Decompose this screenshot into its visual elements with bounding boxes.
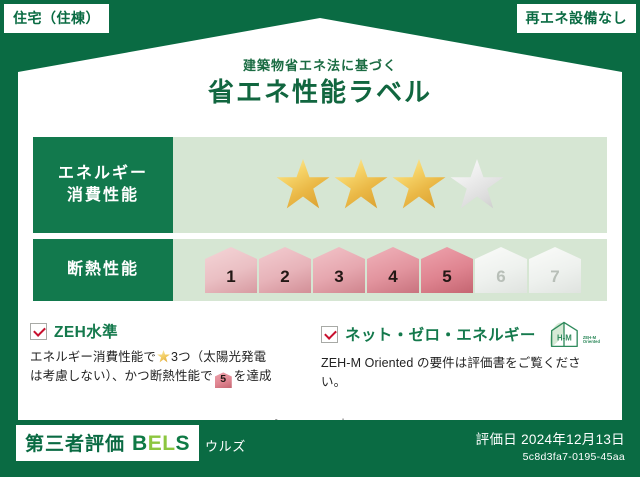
zeh-desc-part3: を達成 [234,369,272,383]
label-title-block: 建築物省エネ法に基づく 省エネ性能ラベル [0,58,640,107]
criterion-net-zero-energy: ネット・ゼロ・エネルギー H-M ZEH-M Oriented ZEH-M Or… [321,320,612,393]
criterion-nze-description: ZEH-M Oriented の要件は評価書をご覧ください。 [321,354,598,393]
insulation-grade-scale: 1234567 [173,239,607,301]
criteria-section: ZEH水準 エネルギー消費性能で3つ（太陽光発電は考慮しない）、かつ断熱性能で5… [30,320,612,393]
zeh-m-caption-line2: Oriented [583,339,600,344]
bels-letters-el: EL [148,432,176,455]
criterion-zeh-header: ZEH水準 [30,320,307,342]
zeh-desc-part1: エネルギー消費性能で [30,350,156,364]
performance-rows: エネルギー 消費性能 断熱性能 1234567 [33,137,607,301]
checkmark-icon [30,323,47,340]
insulation-label-line1: 断熱性能 [67,259,139,281]
inline-grade-badge: 5 [215,372,232,388]
energy-label-line2: 消費性能 [67,185,139,207]
star-rating [173,137,607,233]
energy-label-line1: エネルギー [58,163,148,185]
renewable-energy-tag: 再エネ設備なし [517,4,637,33]
insulation-performance-row: 断熱性能 1234567 [33,239,607,301]
insulation-grade-1: 1 [205,247,257,293]
zeh-m-mark-text: H-M [557,334,572,343]
bels-letter-s: S [176,432,191,455]
star-filled-icon [276,159,330,211]
checkmark-icon [321,326,338,343]
bels-prefix-text: 第三者評価 [25,429,125,456]
bels-badge: 第三者評価 BELS [16,425,199,461]
inline-star-icon [157,350,170,363]
evaluation-info: 評価日 2024年12月13日 5c8d3fa7-0195-45aa [476,428,625,463]
bels-letter-b: B [132,432,148,455]
insulation-grade-4: 4 [367,247,419,293]
criterion-nze-header: ネット・ゼロ・エネルギー H-M ZEH-M Oriented [321,320,598,348]
insulation-grade-5: 5 [421,247,473,293]
zeh-m-house-icon: H-M [547,320,581,348]
title-subtitle: 建築物省エネ法に基づく [0,58,640,74]
building-type-tag: 住宅（住棟） [4,4,109,33]
zeh-m-logo-caption: ZEH-M Oriented [583,336,600,348]
evaluation-id: 5c8d3fa7-0195-45aa [476,451,625,463]
zeh-desc-star-count: 3つ（太陽光発電 [171,350,266,364]
insulation-grade-7: 7 [529,247,581,293]
energy-performance-row: エネルギー 消費性能 [33,137,607,233]
zeh-m-logo: H-M ZEH-M Oriented [547,320,600,348]
insulation-performance-label: 断熱性能 [33,239,173,301]
insulation-grade-3: 3 [313,247,365,293]
zeh-desc-part2: は考慮しない）、かつ断熱性能で [30,369,213,383]
star-filled-icon [392,159,446,211]
energy-performance-label: エネルギー 消費性能 [33,137,173,233]
criterion-zeh-standard: ZEH水準 エネルギー消費性能で3つ（太陽光発電は考慮しない）、かつ断熱性能で5… [30,320,321,393]
criterion-zeh-title: ZEH水準 [54,320,118,342]
star-empty-icon [450,159,504,211]
bels-wordmark: BELS [132,432,190,456]
title-main: 省エネ性能ラベル [0,78,640,108]
label-footer: 第三者評価 BELS ウルズ 評価日 2024年12月13日 5c8d3fa7-… [0,420,640,477]
insulation-grade-6: 6 [475,247,527,293]
company-name: ウルズ [205,436,246,455]
energy-performance-label: 住宅（住棟） 再エネ設備なし 建築物省エネ法に基づく 省エネ性能ラベル エネルギ… [0,0,640,477]
insulation-grade-2: 2 [259,247,311,293]
star-filled-icon [334,159,388,211]
evaluation-date: 評価日 2024年12月13日 [476,428,625,448]
criterion-nze-title: ネット・ゼロ・エネルギー [345,323,536,345]
criterion-zeh-description: エネルギー消費性能で3つ（太陽光発電は考慮しない）、かつ断熱性能で5を達成 [30,348,307,388]
